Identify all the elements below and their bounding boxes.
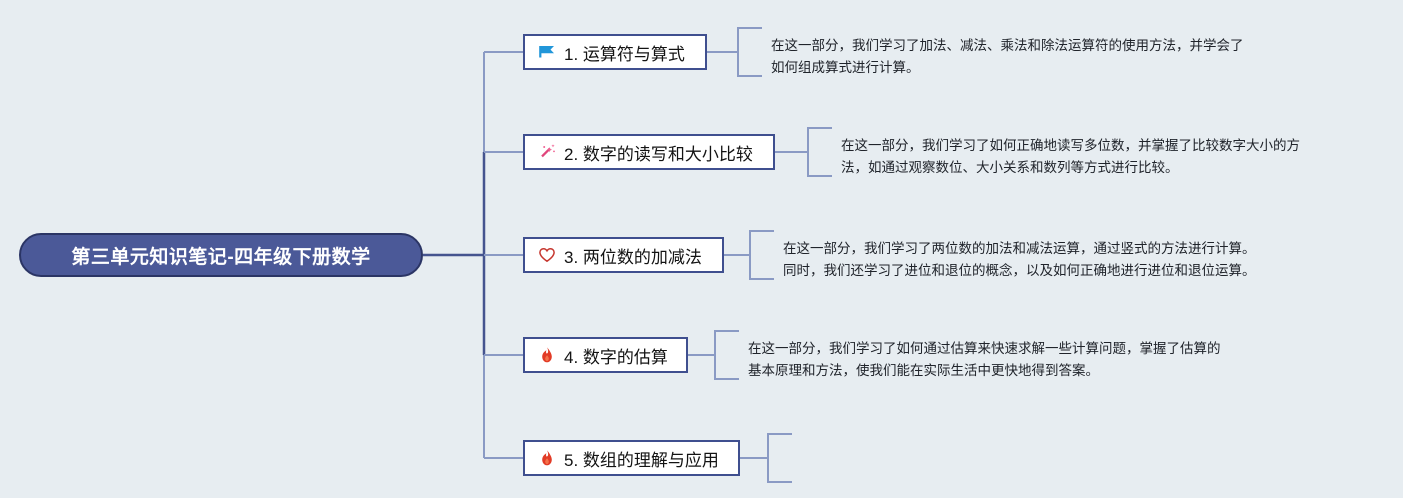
- topic-label-3: 3. 两位数的加减法: [564, 243, 702, 268]
- note-bracket-5: [768, 434, 792, 482]
- note-bracket-3: [750, 231, 774, 279]
- topic-node-1[interactable]: 1. 运算符与算式: [523, 34, 707, 70]
- note-bracket-4: [715, 331, 739, 379]
- magic-wand-icon: [537, 143, 557, 161]
- topic-description-3: 在这一部分，我们学习了两位数的加法和减法运算，通过竖式的方法进行计算。 同时，我…: [783, 238, 1323, 282]
- blue-flag-icon: [537, 43, 557, 61]
- note-bracket-1: [738, 28, 762, 76]
- topic-label-4: 4. 数字的估算: [564, 343, 668, 368]
- topic-node-3[interactable]: 3. 两位数的加减法: [523, 237, 724, 273]
- heart-outline-icon: [537, 246, 557, 264]
- mindmap-canvas: 第三单元知识笔记-四年级下册数学 1. 运算符与算式 在这一部分，我们学习了加法…: [0, 0, 1403, 498]
- topic-label-1: 1. 运算符与算式: [564, 40, 685, 65]
- root-title: 第三单元知识笔记-四年级下册数学: [71, 242, 370, 269]
- topic-node-2[interactable]: 2. 数字的读写和大小比较: [523, 134, 775, 170]
- topic-description-2: 在这一部分，我们学习了如何正确地读写多位数，并掌握了比较数字大小的方 法，如通过…: [841, 135, 1361, 179]
- fire-icon: [537, 346, 557, 364]
- fire-icon: [537, 449, 557, 467]
- topic-label-5: 5. 数组的理解与应用: [564, 446, 719, 471]
- topic-node-4[interactable]: 4. 数字的估算: [523, 337, 688, 373]
- root-node[interactable]: 第三单元知识笔记-四年级下册数学: [19, 233, 423, 277]
- note-bracket-2: [808, 128, 832, 176]
- topic-description-4: 在这一部分，我们学习了如何通过估算来快速求解一些计算问题，掌握了估算的 基本原理…: [748, 338, 1278, 382]
- topic-label-2: 2. 数字的读写和大小比较: [564, 140, 753, 165]
- topic-node-5[interactable]: 5. 数组的理解与应用: [523, 440, 740, 476]
- topic-description-1: 在这一部分，我们学习了加法、减法、乘法和除法运算符的使用方法，并学会了 如何组成…: [771, 35, 1291, 79]
